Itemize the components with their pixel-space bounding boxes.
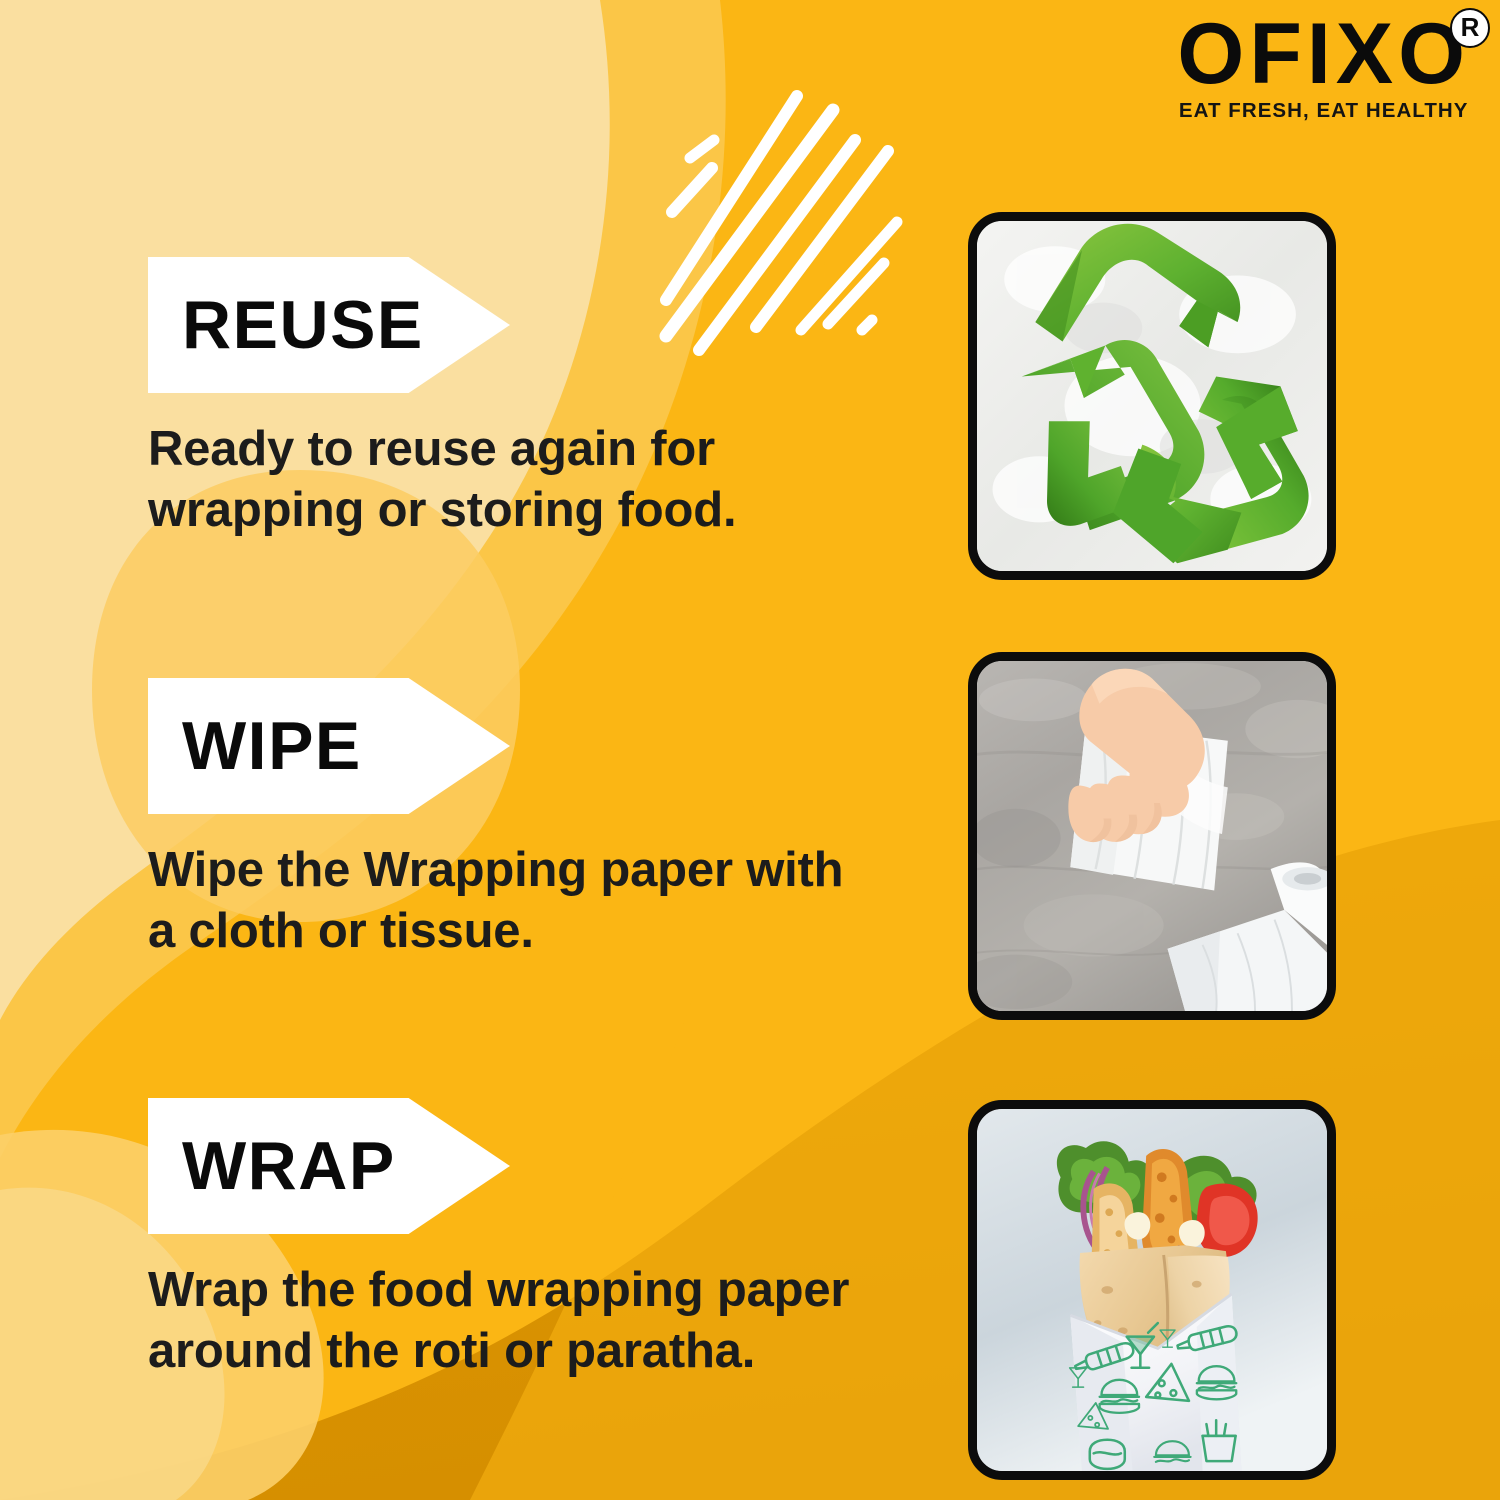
step-banner-reuse: REUSE [148, 257, 510, 393]
brand-logo: OFIXO R EAT FRESH, EAT HEALTHY [1177, 14, 1470, 123]
step-reuse: REUSE Ready to reuse again for wrapping … [148, 257, 868, 541]
hand-wiping-with-tissue-image [977, 661, 1327, 1011]
step-description: Ready to reuse again for wrapping or sto… [148, 419, 868, 541]
step-banner-wipe: WIPE [148, 678, 510, 814]
recycle-symbol-image [977, 221, 1327, 571]
wrapped-chicken-wrap-image [977, 1109, 1327, 1471]
recycle-symbol-card [968, 212, 1336, 580]
step-wipe: WIPE Wipe the Wrapping paper with a clot… [148, 678, 868, 962]
step-banner-wrap: WRAP [148, 1098, 510, 1234]
step-description: Wipe the Wrapping paper with a cloth or … [148, 840, 868, 962]
hand-wiping-with-tissue-card [968, 652, 1336, 1020]
wrapped-chicken-wrap-card [968, 1100, 1336, 1480]
step-description: Wrap the food wrapping paper around the … [148, 1260, 868, 1382]
brand-name: OFIXO [1177, 14, 1470, 96]
registered-trademark-icon: R [1450, 8, 1490, 48]
step-label: WIPE [182, 712, 362, 780]
step-wrap: WRAP Wrap the food wrapping paper around… [148, 1098, 868, 1382]
step-label: REUSE [182, 291, 424, 359]
step-label: WRAP [182, 1132, 396, 1200]
brand-tagline: EAT FRESH, EAT HEALTHY [1177, 99, 1470, 123]
